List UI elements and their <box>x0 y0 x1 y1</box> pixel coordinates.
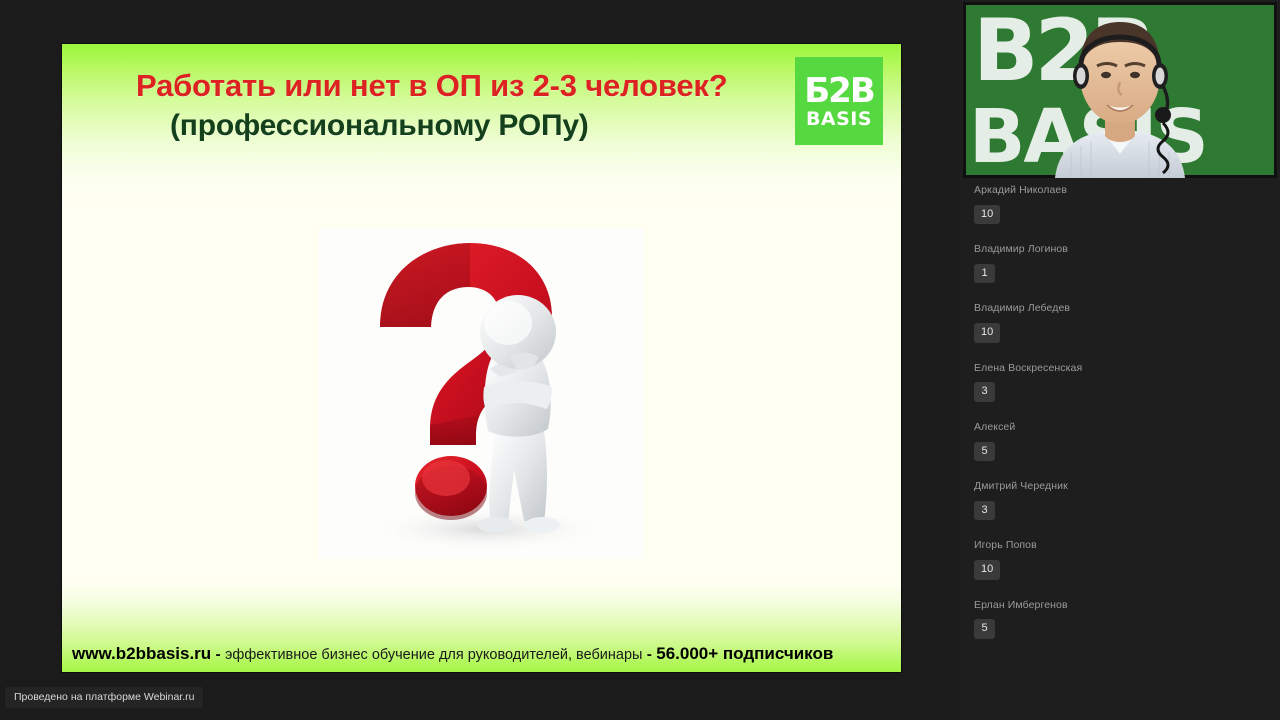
chat-author: Алексей <box>974 421 1280 434</box>
list-item[interactable]: Игорь Попов 10 <box>974 539 1280 579</box>
webinar-player: Работать или нет в ОП из 2-3 человек? (п… <box>0 0 1280 720</box>
footer-description: эффективное бизнес обучение для руководи… <box>225 647 642 663</box>
chat-author: Аркадий Николаев <box>974 184 1280 197</box>
footer-dash-2: - <box>647 646 652 663</box>
slide-title-line-1: Работать или нет в ОП из 2-3 человек? <box>102 66 861 106</box>
list-item[interactable]: Ерлан Имбергенов 5 <box>974 599 1280 639</box>
presenter-video[interactable]: B2B BASIS <box>963 2 1277 178</box>
list-item[interactable]: Елена Воскресенская 3 <box>974 362 1280 402</box>
chat-value: 1 <box>974 264 995 284</box>
chat-author: Ерлан Имбергенов <box>974 599 1280 612</box>
chat-value: 5 <box>974 619 995 639</box>
list-item[interactable]: Аркадий Николаев 10 <box>974 184 1280 224</box>
slide-footer: www.b2bbasis.ru - эффективное бизнес обу… <box>62 644 901 664</box>
logo-primary-text: Б2B <box>804 74 874 108</box>
logo-secondary-text: BASIS <box>806 110 872 129</box>
slide[interactable]: Работать или нет в ОП из 2-3 человек? (п… <box>62 44 901 672</box>
footer-dash-1: - <box>216 646 221 663</box>
list-item[interactable]: Владимир Лебедев 10 <box>974 302 1280 342</box>
slide-title-line-2: (профессиональному РОПу) <box>102 106 861 145</box>
chat-author: Игорь Попов <box>974 539 1280 552</box>
chat-value: 10 <box>974 323 1000 343</box>
b2b-basis-logo: Б2B BASIS <box>795 57 883 145</box>
footer-subscribers: 56.000+ подписчиков <box>656 644 833 663</box>
chat-value: 10 <box>974 205 1000 225</box>
chat-value: 10 <box>974 560 1000 580</box>
list-item[interactable]: Алексей 5 <box>974 421 1280 461</box>
chat-value: 3 <box>974 501 995 521</box>
side-panel: B2B BASIS <box>960 0 1280 720</box>
list-item[interactable]: Дмитрий Чередник 3 <box>974 480 1280 520</box>
list-item[interactable]: Владимир Логинов 1 <box>974 243 1280 283</box>
question-mark-icon <box>318 229 643 559</box>
chat-author: Владимир Лебедев <box>974 302 1280 315</box>
chat-author: Дмитрий Чередник <box>974 480 1280 493</box>
platform-tag: Проведено на платформе Webinar.ru <box>5 687 203 708</box>
slide-title-block: Работать или нет в ОП из 2-3 человек? (п… <box>62 66 901 145</box>
presentation-stage[interactable]: Работать или нет в ОП из 2-3 человек? (п… <box>0 0 960 720</box>
chat-list[interactable]: Аркадий Николаев 10 Владимир Логинов 1 В… <box>960 184 1280 720</box>
footer-site: www.b2bbasis.ru <box>72 644 211 663</box>
chat-author: Владимир Логинов <box>974 243 1280 256</box>
chat-author: Елена Воскресенская <box>974 362 1280 375</box>
chat-value: 3 <box>974 382 995 402</box>
chat-value: 5 <box>974 442 995 462</box>
